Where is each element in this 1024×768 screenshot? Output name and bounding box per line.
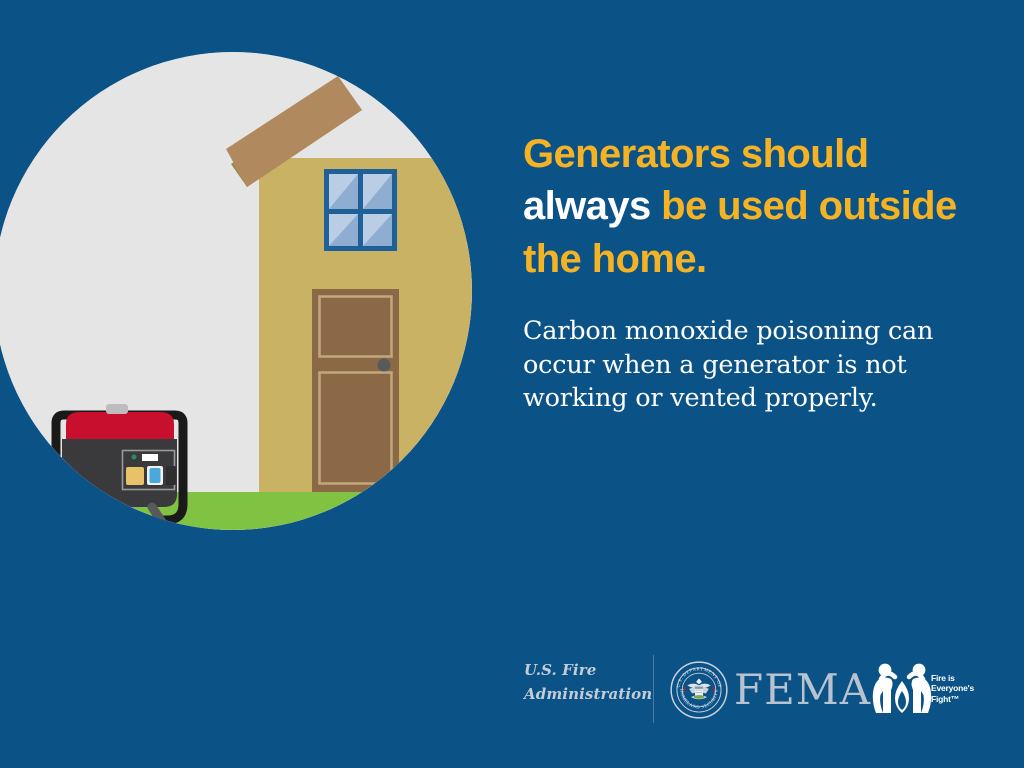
dhs-seal-icon: U.S. DEPARTMENT OF HOMELAND SECURITY (670, 661, 728, 719)
headline-part-1: Generators should (523, 132, 868, 176)
fief-tagline: Fire is Everyone's Fight™ (931, 673, 983, 704)
generator-display (142, 454, 158, 461)
footer-divider (653, 655, 654, 723)
fire-is-everyones-fight-logo: Fire is Everyone's Fight™ (871, 661, 981, 717)
window (324, 169, 397, 251)
grass (0, 492, 472, 530)
generator-outlet-blue (150, 468, 161, 483)
fief-line-2: Everyone's (931, 683, 983, 693)
fief-line-1: Fire is (931, 673, 983, 683)
generator-indicator-light (132, 455, 137, 460)
door-slab (312, 289, 399, 492)
doorknob (378, 359, 391, 372)
fief-figures-icon (871, 661, 933, 717)
headline-emphasis: always (523, 184, 651, 228)
text-block: Generators should always be used outside… (523, 128, 973, 415)
generator-fuel-tank (66, 412, 174, 439)
footer-logo-bar: U.S. Fire Administration U.S. DEPARTMENT… (0, 645, 1024, 735)
body-copy: Carbon monoxide poisoning can occur when… (523, 315, 973, 415)
door (312, 289, 399, 492)
fema-wordmark: FEMA (734, 669, 871, 711)
generator-outlet-dark (166, 466, 176, 485)
illustration-circle (0, 52, 472, 530)
page-headline: Generators should always be used outside… (523, 128, 973, 285)
generator-fuel-cap (106, 404, 128, 414)
window-pane-top-left (329, 174, 358, 209)
generator-outlet-yellow (126, 467, 144, 485)
usfa-logo: U.S. Fire Administration (524, 659, 636, 706)
fief-line-3: Fight™ (931, 694, 983, 704)
window-pane-top-right (363, 174, 392, 209)
usfa-line-1: U.S. Fire (524, 659, 636, 683)
window-pane-bottom-right (363, 214, 392, 246)
usfa-line-2: Administration (524, 683, 636, 707)
window-pane-bottom-left (329, 214, 358, 246)
generator-leg-left (72, 507, 87, 530)
illustration-svg (0, 52, 472, 530)
